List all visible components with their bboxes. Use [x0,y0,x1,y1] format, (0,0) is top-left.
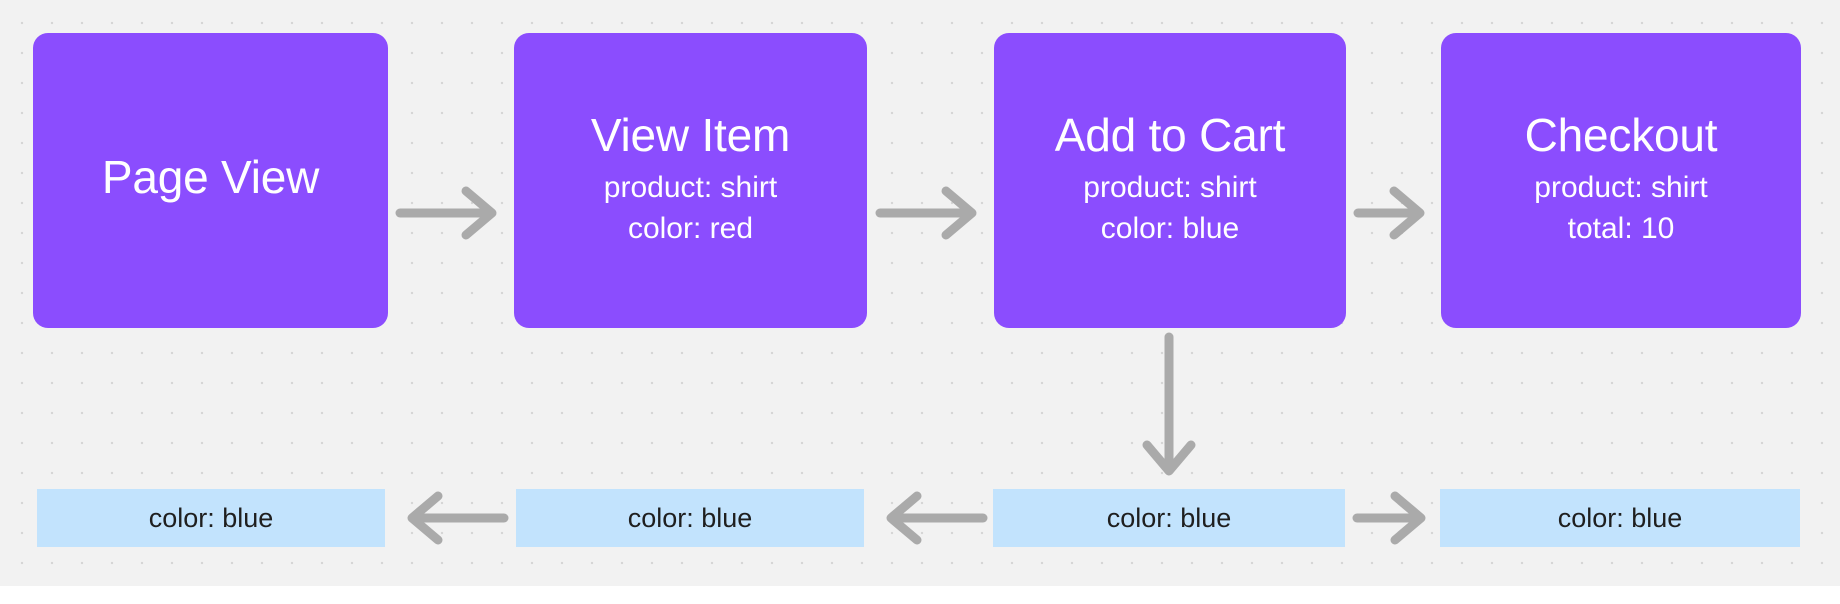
arrow-right-icon [1354,185,1434,241]
property-node-1[interactable]: color: blue [37,489,385,547]
event-node-view-item[interactable]: View Item product: shirt color: red [514,33,867,328]
canvas-bottom-band [0,586,1840,604]
property-node-4[interactable]: color: blue [1440,489,1800,547]
arrow-add-to-cart-to-property-node-3 [1141,333,1197,485]
event-node-title: Page View [102,153,319,203]
arrow-property-node-3-to-property-node-2 [871,490,987,546]
arrow-down-icon [1141,333,1197,485]
event-node-properties: product: shirt color: red [604,167,777,250]
property-node-3[interactable]: color: blue [993,489,1345,547]
event-node-title: Add to Cart [1055,111,1285,161]
arrow-right-icon [396,185,506,241]
event-node-page-view[interactable]: Page View [33,33,388,328]
arrow-property-node-2-to-property-node-1 [392,490,508,546]
event-node-checkout[interactable]: Checkout product: shirt total: 10 [1441,33,1801,328]
property-node-label: color: blue [1107,505,1232,532]
arrow-left-icon [392,490,508,546]
arrow-page-view-to-view-item [396,185,506,241]
property-node-label: color: blue [1558,505,1683,532]
property-node-label: color: blue [628,505,753,532]
event-node-title: Checkout [1525,111,1718,161]
property-node-label: color: blue [149,505,274,532]
arrow-add-to-cart-to-checkout [1354,185,1434,241]
event-property-line: total: 10 [1568,208,1675,249]
arrow-right-icon [876,185,986,241]
arrow-right-icon [1353,490,1435,546]
arrow-left-icon [871,490,987,546]
flow-diagram-canvas[interactable]: Page View View Item product: shirt color… [0,0,1840,604]
event-node-add-to-cart[interactable]: Add to Cart product: shirt color: blue [994,33,1346,328]
arrow-property-node-3-to-property-node-4 [1353,490,1435,546]
event-property-line: product: shirt [1083,167,1256,208]
event-node-properties: product: shirt total: 10 [1534,167,1707,250]
event-property-line: product: shirt [1534,167,1707,208]
event-node-title: View Item [591,111,790,161]
event-property-line: product: shirt [604,167,777,208]
property-node-2[interactable]: color: blue [516,489,864,547]
event-property-line: color: red [628,208,753,249]
arrow-view-item-to-add-to-cart [876,185,986,241]
event-property-line: color: blue [1101,208,1239,249]
event-node-properties: product: shirt color: blue [1083,167,1256,250]
